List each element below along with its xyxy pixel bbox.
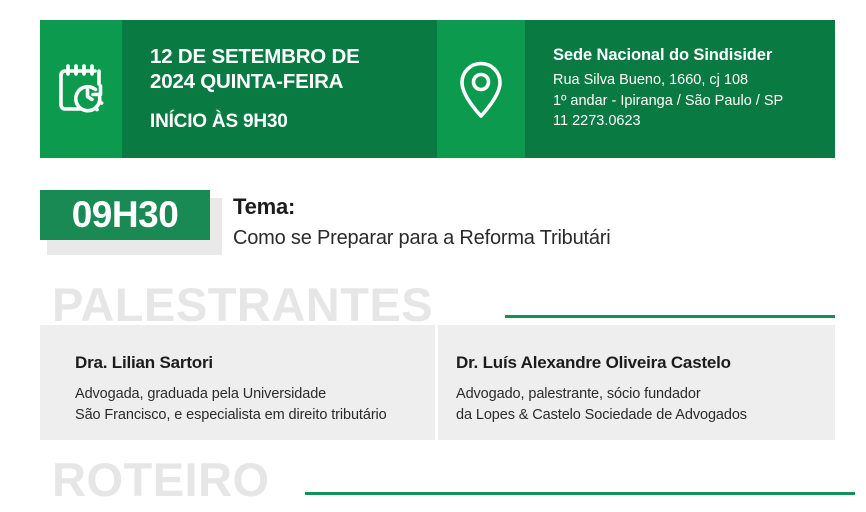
speakers-list: Dra. Lilian Sartori Advogada, graduada p… <box>40 325 835 440</box>
theme-label: Tema: <box>233 194 833 220</box>
speaker-name: Dr. Luís Alexandre Oliveira Castelo <box>456 353 835 373</box>
session-time-label: 09H30 <box>72 194 179 236</box>
speakers-section-rule <box>505 315 835 318</box>
venue-address-line-1: Rua Silva Bueno, 1660, cj 108 <box>553 70 835 91</box>
speaker-card: Dra. Lilian Sartori Advogada, graduada p… <box>40 325 435 440</box>
venue-name: Sede Nacional do Sindisider <box>553 46 835 65</box>
speakers-section-heading: PALESTRANTES <box>52 281 433 328</box>
session-time-badge: 09H30 <box>40 190 210 240</box>
speaker-bio-line-1: Advogada, graduada pela Universidade <box>75 384 435 405</box>
map-pin-icon <box>455 58 507 120</box>
agenda-section-rule <box>305 492 855 495</box>
place-icon-panel <box>437 20 525 158</box>
speaker-bio-line-2: da Lopes & Castelo Sociedade de Advogado… <box>456 405 835 426</box>
event-start-time: INÍCIO ÀS 9H30 <box>150 111 437 133</box>
event-date-line-1: 12 DE SETEMBRO DE <box>150 45 437 69</box>
event-header-bar: 12 DE SETEMBRO DE 2024 QUINTA-FEIRA INÍC… <box>40 20 835 158</box>
calendar-clock-icon <box>54 62 108 116</box>
speaker-bio-line-1: Advogado, palestrante, sócio fundador <box>456 384 835 405</box>
venue-address-line-2: 1º andar - Ipiranga / São Paulo / SP <box>553 91 835 112</box>
session-theme-block: Tema: Como se Preparar para a Reforma Tr… <box>233 194 833 250</box>
event-date-line-2: 2024 QUINTA-FEIRA <box>150 70 437 94</box>
agenda-section-heading: ROTEIRO <box>52 456 270 503</box>
theme-title: Como se Preparar para a Reforma Tributár… <box>233 227 833 250</box>
date-text-panel: 12 DE SETEMBRO DE 2024 QUINTA-FEIRA INÍC… <box>122 20 437 158</box>
place-text-panel: Sede Nacional do Sindisider Rua Silva Bu… <box>525 20 835 158</box>
venue-phone: 11 2273.0623 <box>553 111 835 132</box>
speaker-bio-line-2: São Francisco, e especialista em direito… <box>75 405 435 426</box>
speaker-card: Dr. Luís Alexandre Oliveira Castelo Advo… <box>438 325 835 440</box>
speaker-name: Dra. Lilian Sartori <box>75 353 435 373</box>
date-icon-panel <box>40 20 122 158</box>
